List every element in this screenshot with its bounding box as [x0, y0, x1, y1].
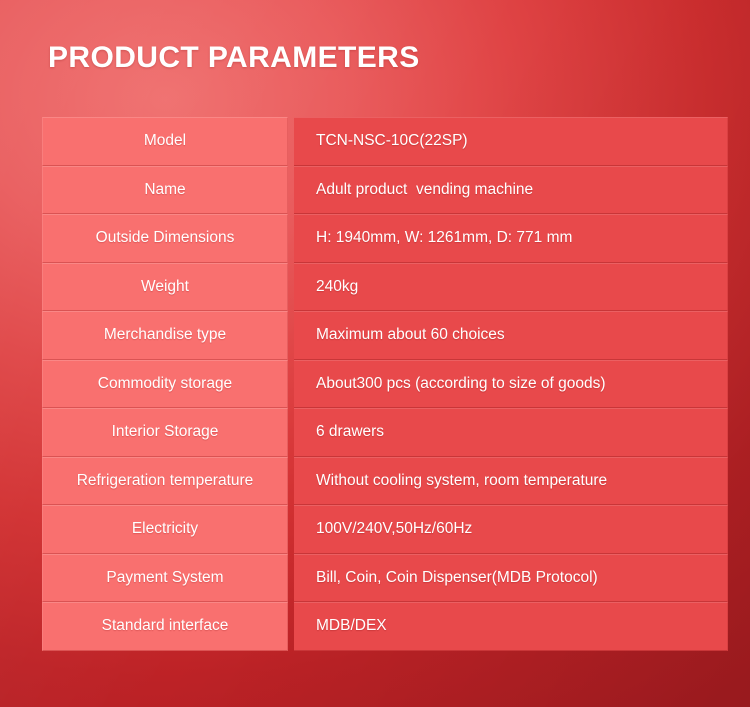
spec-value: TCN-NSC-10C(22SP) — [294, 117, 728, 166]
spec-value: H: 1940mm, W: 1261mm, D: 771 mm — [294, 214, 728, 263]
table-row: Merchandise type Maximum about 60 choice… — [42, 311, 728, 360]
page-title: PRODUCT PARAMETERS — [48, 38, 420, 78]
table-row: Refrigeration temperature Without coolin… — [42, 457, 728, 506]
table-row: Weight 240kg — [42, 263, 728, 312]
spec-value: Adult product vending machine — [294, 166, 728, 215]
spec-label: Interior Storage — [42, 408, 288, 457]
spec-label: Commodity storage — [42, 360, 288, 409]
table-row: Interior Storage 6 drawers — [42, 408, 728, 457]
table-row: Commodity storage About300 pcs (accordin… — [42, 360, 728, 409]
spec-label: Weight — [42, 263, 288, 312]
product-parameters-page: PRODUCT PARAMETERS Model TCN-NSC-10C(22S… — [0, 0, 750, 707]
spec-value: 100V/240V,50Hz/60Hz — [294, 505, 728, 554]
spec-value: MDB/DEX — [294, 602, 728, 651]
spec-label: Merchandise type — [42, 311, 288, 360]
spec-value: About300 pcs (according to size of goods… — [294, 360, 728, 409]
spec-value: 240kg — [294, 263, 728, 312]
spec-value: Without cooling system, room temperature — [294, 457, 728, 506]
spec-label: Name — [42, 166, 288, 215]
table-row: Model TCN-NSC-10C(22SP) — [42, 117, 728, 166]
spec-label: Model — [42, 117, 288, 166]
spec-value: Bill, Coin, Coin Dispenser(MDB Protocol) — [294, 554, 728, 603]
spec-label: Electricity — [42, 505, 288, 554]
specification-table: Model TCN-NSC-10C(22SP) Name Adult produ… — [42, 117, 728, 651]
table-row: Name Adult product vending machine — [42, 166, 728, 215]
spec-label: Standard interface — [42, 602, 288, 651]
spec-label: Refrigeration temperature — [42, 457, 288, 506]
table-row: Electricity 100V/240V,50Hz/60Hz — [42, 505, 728, 554]
table-row: Standard interface MDB/DEX — [42, 602, 728, 651]
spec-label: Outside Dimensions — [42, 214, 288, 263]
spec-label: Payment System — [42, 554, 288, 603]
table-row: Payment System Bill, Coin, Coin Dispense… — [42, 554, 728, 603]
table-row: Outside Dimensions H: 1940mm, W: 1261mm,… — [42, 214, 728, 263]
spec-value: 6 drawers — [294, 408, 728, 457]
spec-value: Maximum about 60 choices — [294, 311, 728, 360]
